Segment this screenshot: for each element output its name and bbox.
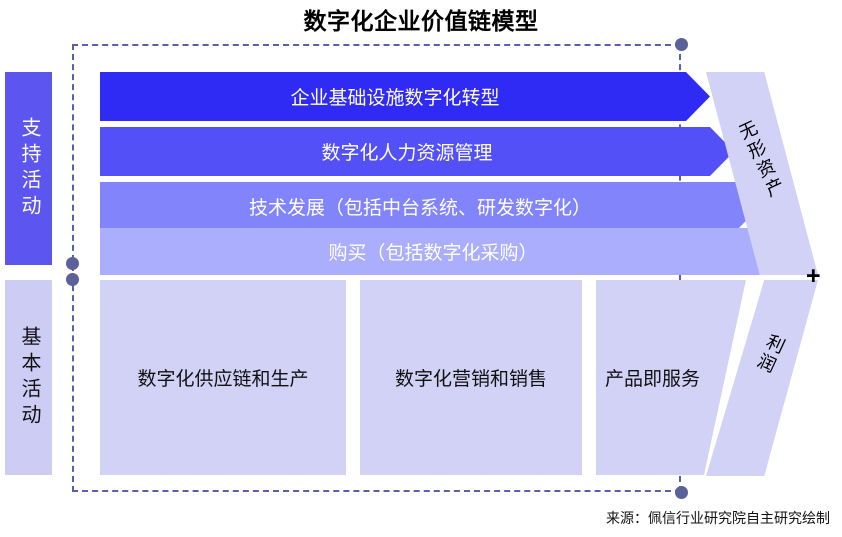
category-label-primary-text: 基本活动 — [17, 326, 40, 430]
category-label-primary-activities: 基本活动 — [5, 280, 52, 475]
support-activity-bar-3[interactable]: 技术发展（包括中台系统、研发数字化） — [100, 182, 760, 231]
support-activity-bar-1[interactable]: 企业基础设施数字化转型 — [100, 72, 710, 121]
boundary-dot-bottom-right — [675, 486, 688, 499]
boundary-dot-middle-lower — [66, 273, 79, 286]
support-activity-label-2: 数字化人力资源管理 — [321, 138, 512, 165]
category-label-support-text: 支持活动 — [17, 117, 40, 221]
source-attribution: 来源：佩信行业研究院自主研究绘制 — [606, 508, 830, 528]
primary-activity-box-1[interactable]: 数字化供应链和生产 — [100, 280, 346, 475]
primary-activity-label-2: 数字化营销和销售 — [395, 364, 547, 391]
plus-operator-icon: + — [806, 264, 821, 289]
category-label-support-activities: 支持活动 — [5, 72, 52, 265]
support-activity-label-3: 技术发展（包括中台系统、研发数字化） — [249, 193, 611, 220]
support-activity-label-4: 购买（包括数字化采购） — [328, 238, 557, 265]
support-activity-label-1: 企业基础设施数字化转型 — [290, 83, 519, 110]
support-activity-bar-2[interactable]: 数字化人力资源管理 — [100, 127, 734, 176]
boundary-dot-top-right — [675, 38, 688, 51]
page-title: 数字化企业价值链模型 — [0, 2, 842, 36]
boundary-dot-middle-upper — [66, 257, 79, 270]
primary-activity-label-3: 产品即服务 — [605, 364, 700, 391]
support-activity-bar-4[interactable]: 购买（包括数字化采购） — [100, 228, 786, 275]
primary-activity-box-2[interactable]: 数字化营销和销售 — [360, 280, 582, 475]
primary-activity-label-1: 数字化供应链和生产 — [137, 364, 308, 391]
value-chain-diagram: 数字化企业价值链模型 支持活动 基本活动 企业基础设施数字化转型 数字化人力资源… — [0, 0, 842, 537]
